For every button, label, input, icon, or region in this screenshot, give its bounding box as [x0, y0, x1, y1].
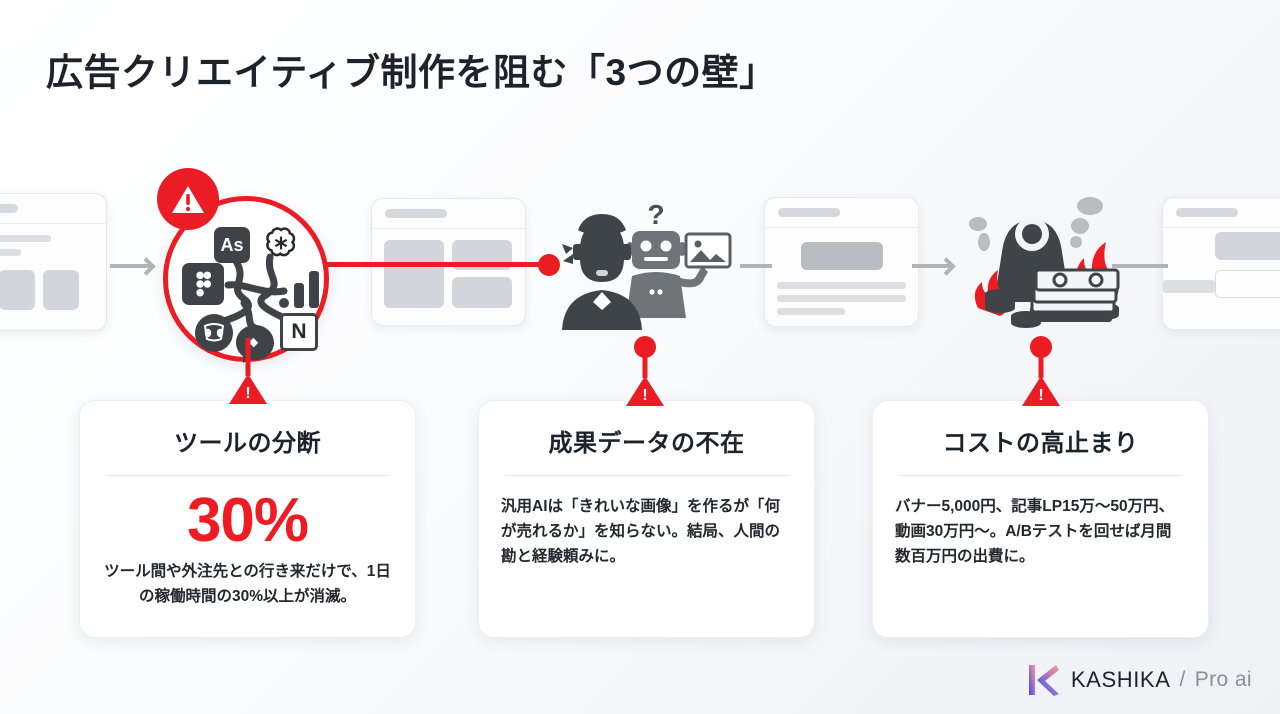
title-pill: [778, 208, 840, 217]
text-line: [0, 235, 51, 242]
kashika-k-mark-icon: [1026, 662, 1062, 698]
card-body-text: 汎用AIは「きれいな画像」を作るが「何が売れるか」を知らない。結局、人間の勘と経…: [501, 494, 792, 569]
window-card-right: [1162, 197, 1280, 330]
openai-icon: [261, 223, 301, 263]
content-block: [1215, 232, 1280, 260]
image-block: [801, 242, 883, 270]
window-card-third: [764, 197, 919, 327]
question-mark-icon: ?: [647, 199, 664, 230]
process-flow: As: [0, 160, 1280, 360]
burning-money-weight: [958, 190, 1133, 335]
figma-glyph: [192, 271, 214, 297]
warning-triangle-glyph: [171, 184, 205, 215]
logo-separator: /: [1179, 668, 1185, 692]
pin-marker-1: !: [228, 338, 268, 404]
notion-icon: N: [280, 313, 318, 351]
window-titlebar: [1163, 198, 1280, 228]
problem-card-tool-fragmentation[interactable]: ツールの分断 30% ツール間や外注先との行き来だけで、1日の稼働時間の30%以…: [79, 400, 416, 638]
logo-brand-name: KASHIKA: [1071, 667, 1171, 693]
flow-arrow-head: [937, 257, 955, 275]
card-title: コストの高止まり: [895, 423, 1186, 458]
logo-product-name: Pro ai: [1195, 668, 1252, 692]
card-body-text: ツール間や外注先との行き来だけで、1日の稼働時間の30%以上が消滅。: [102, 559, 393, 609]
problem-card-high-cost[interactable]: コストの高止まり バナー5,000円、記事LP15万〜50万円、動画30万円〜。…: [872, 400, 1209, 638]
flow-arrow-head: [137, 257, 155, 275]
card-title: ツールの分断: [102, 423, 393, 458]
card-divider: [106, 475, 389, 476]
image-card-icon: [686, 234, 730, 267]
adobe-after-effects-icon: As: [214, 227, 250, 263]
content-block: [0, 270, 35, 310]
people-illustration: ?: [560, 196, 745, 331]
cost-illustration: [958, 190, 1133, 335]
content-block: [384, 240, 444, 308]
content-outline-block: [1215, 270, 1280, 298]
card-divider: [505, 475, 788, 476]
pin-stem: [246, 338, 251, 376]
window-titlebar: [0, 194, 106, 224]
blindfolded-person-and-robot: ?: [560, 196, 745, 331]
figma-icon: [182, 263, 224, 305]
content-block: [452, 277, 512, 308]
text-line: [777, 282, 906, 289]
text-line: [0, 249, 21, 256]
window-body: [372, 229, 525, 319]
problem-card-no-performance-data[interactable]: 成果データの不在 汎用AIは「きれいな画像」を作るが「何が売れるか」を知らない。…: [478, 400, 815, 638]
notion-icon-label: N: [291, 320, 306, 344]
red-connector-dot: [538, 254, 560, 276]
card-divider: [899, 475, 1182, 476]
text-line: [777, 295, 906, 302]
blindfolded-person-icon: [562, 214, 642, 330]
window-card-left: [0, 193, 107, 331]
title-pill: [0, 204, 18, 213]
cash-stack-icon: [1030, 270, 1118, 322]
pin-warning-glyph: !: [1038, 388, 1043, 404]
card-body-text: バナー5,000円、記事LP15万〜50万円、動画30万円〜。A/Bテストを回せ…: [895, 494, 1186, 569]
window-body: [0, 224, 106, 321]
content-block: [43, 270, 79, 310]
text-line: [1163, 280, 1215, 293]
text-line: [777, 308, 845, 315]
page-title: 広告クリエイティブ制作を阻む「3つの壁」: [46, 42, 777, 96]
pin-warning-glyph: !: [245, 386, 250, 402]
warning-circle-icon: [157, 168, 219, 230]
window-titlebar: [372, 199, 525, 229]
card-stat: 30%: [102, 488, 393, 553]
title-pill: [1176, 208, 1238, 217]
window-body: [765, 228, 918, 326]
title-pill: [385, 209, 447, 218]
analytics-bar-chart-icon: [278, 269, 322, 309]
adobe-icon-label: As: [220, 235, 243, 256]
pin-marker-3: !: [1021, 336, 1061, 406]
brand-logo: KASHIKA / Pro ai: [1026, 662, 1252, 698]
pin-warning-glyph: !: [642, 388, 647, 404]
pin-stem: [643, 354, 648, 378]
window-titlebar: [765, 198, 918, 228]
pin-stem: [1039, 354, 1044, 378]
card-title: 成果データの不在: [501, 423, 792, 458]
window-body: [1163, 228, 1280, 250]
pin-marker-2: !: [625, 336, 665, 406]
